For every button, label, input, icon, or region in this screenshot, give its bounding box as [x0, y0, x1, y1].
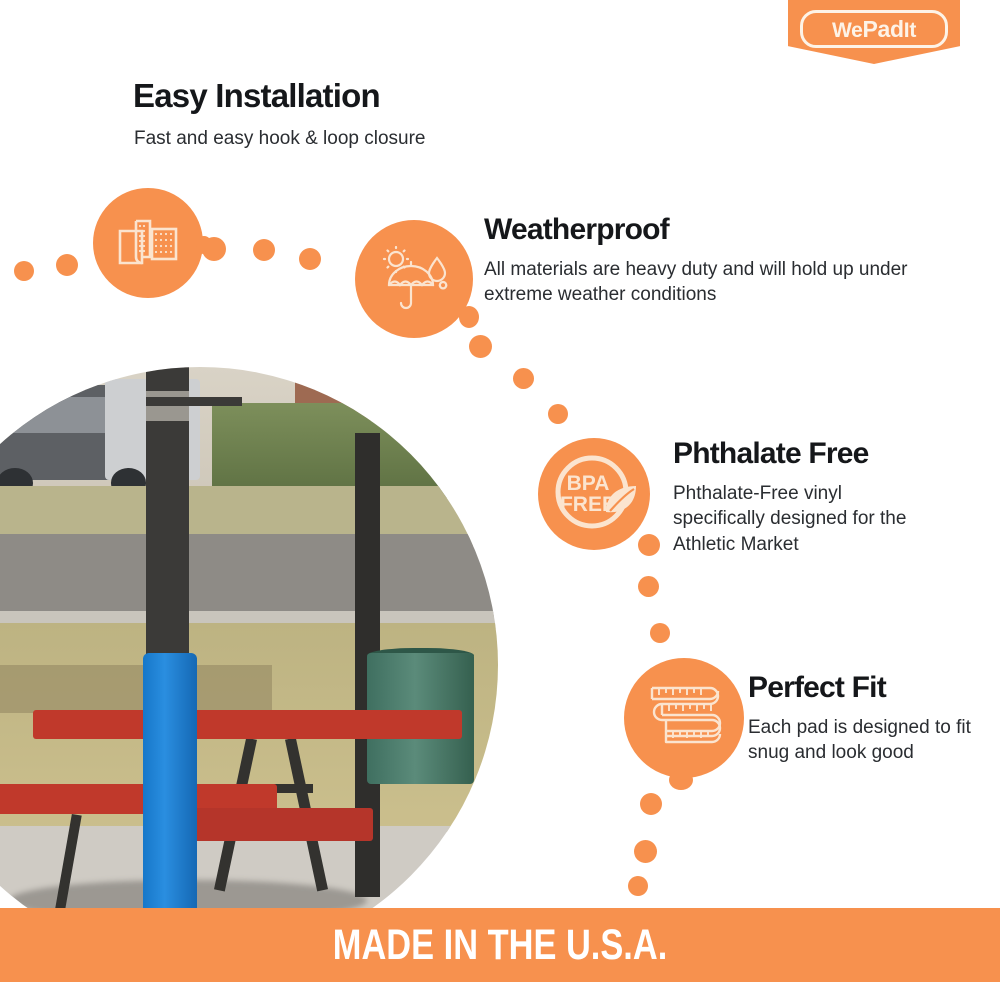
path-dot — [548, 404, 568, 424]
feature-title-perfect-fit: Perfect Fit — [748, 672, 886, 704]
path-dot — [634, 840, 657, 863]
path-dot — [14, 261, 34, 281]
logo-frame: WePadIt — [800, 10, 948, 48]
bpa-label-line1: BPA — [567, 472, 610, 495]
path-dot — [628, 876, 648, 896]
path-dot — [638, 576, 659, 597]
path-dot — [513, 368, 534, 389]
path-dot — [202, 237, 226, 261]
bpa-free-glyph: BPA FREE — [544, 444, 644, 544]
feature-body-weatherproof: All materials are heavy duty and will ho… — [484, 257, 914, 308]
sun-umbrella-rain-icon — [355, 220, 473, 338]
feature-title-weatherproof: Weatherproof — [484, 214, 669, 246]
logo-word-it: It — [904, 19, 916, 42]
feature-body-phthalate-free: Phthalate-Free vinyl specifically design… — [673, 481, 938, 557]
made-in-usa-text: MADE IN THE U.S.A. — [333, 921, 667, 970]
photo-dirt-patch — [0, 665, 272, 713]
logo-word-we: We — [832, 19, 863, 42]
brand-logo[interactable]: WePadIt — [788, 0, 960, 64]
path-dot — [469, 335, 492, 358]
icon-nub-weather — [459, 306, 479, 328]
path-dot — [640, 793, 662, 815]
icon-nub-fit — [669, 770, 693, 790]
hook-and-loop-icon — [93, 188, 203, 298]
path-dot — [299, 248, 321, 270]
feature-title-easy-installation: Easy Installation — [133, 79, 380, 114]
photo-post-arm — [146, 397, 241, 407]
photo-bench — [194, 808, 373, 841]
photo-road — [0, 534, 498, 617]
icon-nub-bpa — [638, 534, 660, 556]
measuring-tape-icon — [624, 658, 744, 778]
path-dot — [650, 623, 670, 643]
path-dot — [253, 239, 275, 261]
feature-body-easy-installation: Fast and easy hook & loop closure — [134, 126, 554, 151]
feature-title-phthalate-free: Phthalate Free — [673, 438, 869, 470]
hook-and-loop-glyph — [116, 217, 180, 269]
feature-body-perfect-fit: Each pad is designed to fit snug and loo… — [748, 715, 978, 766]
bpa-free-leaf-icon: BPA FREE — [538, 438, 650, 550]
logo-wordmark: WePadIt — [832, 18, 916, 41]
path-dot — [56, 254, 78, 276]
infographic-page: WePadIt Easy Installation Fast and easy … — [0, 0, 1000, 987]
product-photo-scene — [0, 367, 498, 963]
measuring-tape-glyph — [642, 678, 726, 758]
logo-word-pad: Pad — [863, 16, 904, 42]
weatherproof-glyph — [377, 246, 451, 312]
made-in-usa-banner: MADE IN THE U.S.A. — [0, 908, 1000, 982]
product-photo — [0, 367, 498, 963]
photo-picnic-table-top — [33, 710, 462, 740]
